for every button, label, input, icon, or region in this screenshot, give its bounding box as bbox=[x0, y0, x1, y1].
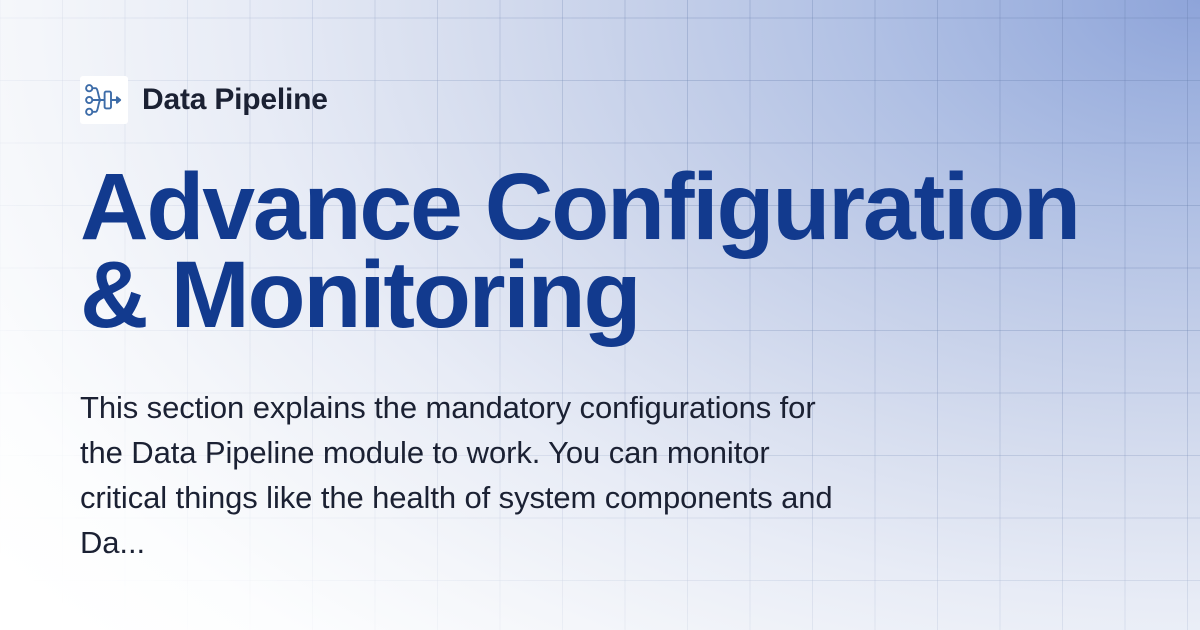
brand-header: Data Pipeline bbox=[80, 76, 328, 124]
brand-name: Data Pipeline bbox=[142, 85, 328, 115]
data-pipeline-icon bbox=[80, 76, 128, 124]
og-preview-card: Data Pipeline Advance Configuration & Mo… bbox=[0, 0, 1200, 630]
page-title: Advance Configuration & Monitoring bbox=[80, 163, 1135, 339]
page-summary: This section explains the mandatory conf… bbox=[80, 385, 840, 565]
card-content: Data Pipeline Advance Configuration & Mo… bbox=[80, 0, 1140, 630]
